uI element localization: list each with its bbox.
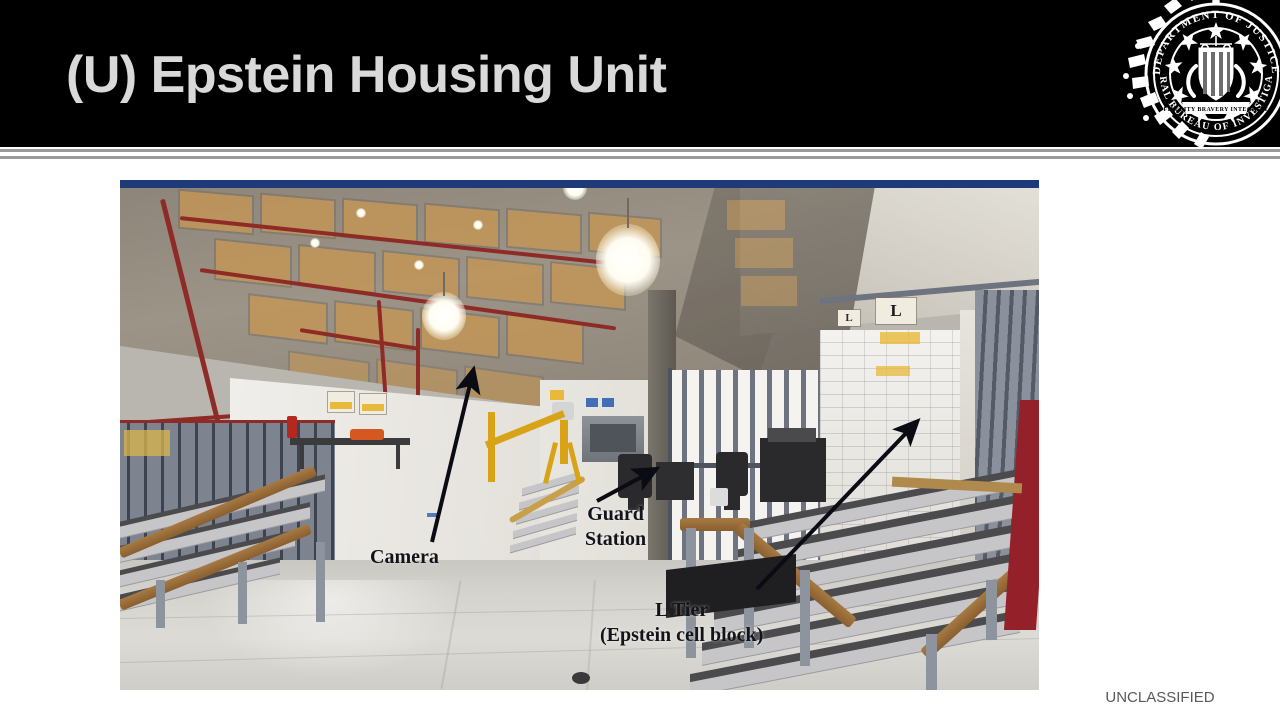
l-tier-arrow [757, 429, 910, 589]
divider-line-top [0, 149, 1280, 152]
header-divider [0, 147, 1280, 161]
fbi-seal: DEPARTMENT OF JUSTICE FEDERAL BUREAU OF … [1116, 0, 1280, 158]
page-title: (U) Epstein Housing Unit [66, 46, 666, 104]
classification-banner: UNCLASSIFIED [1060, 689, 1260, 706]
slide-canvas: (U) Epstein Housing Unit [0, 0, 1280, 720]
annotation-overlay [120, 180, 1039, 690]
svg-text:FIDELITY BRAVERY INTEGRITY: FIDELITY BRAVERY INTEGRITY [1164, 107, 1269, 113]
divider-line-bottom [0, 156, 1280, 159]
guard-station-arrow [597, 474, 647, 501]
camera-arrow [432, 380, 471, 542]
slide-header: (U) Epstein Housing Unit [0, 0, 1280, 147]
housing-unit-photograph: L L [120, 180, 1039, 690]
